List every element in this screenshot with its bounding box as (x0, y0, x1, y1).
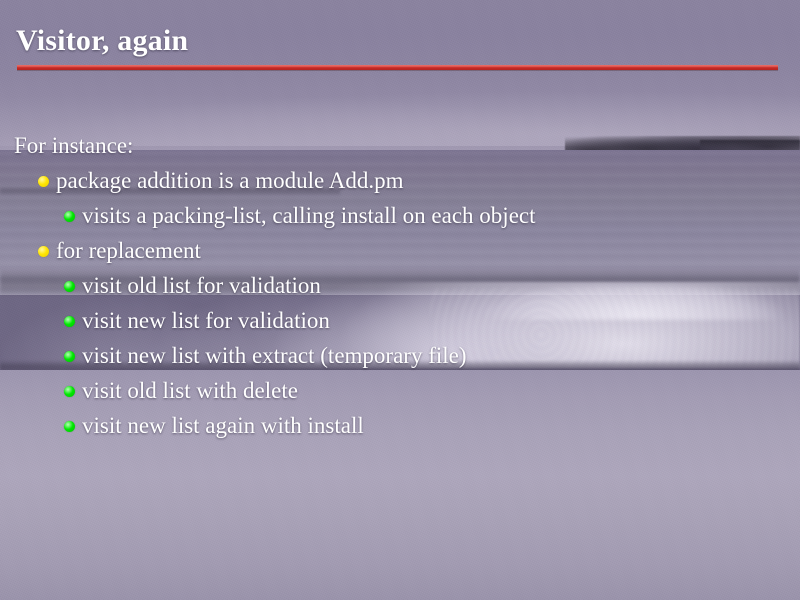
bullet-dot-icon (38, 176, 49, 187)
body-line-text: visit new list for validation (82, 308, 330, 333)
bullet-dot-icon (64, 281, 75, 292)
body-line-text: For instance: (14, 133, 133, 158)
bullet-dot-icon (64, 211, 75, 222)
bullet-dot-icon (64, 316, 75, 327)
body-line-text: visit new list again with install (82, 413, 364, 438)
bullet-item-level1: for replacement (0, 233, 800, 268)
slide-body: For instance: package addition is a modu… (0, 128, 800, 443)
body-line-text: visits a packing-list, calling install o… (82, 203, 536, 228)
bullet-item-level2: visits a packing-list, calling install o… (0, 198, 800, 233)
body-line-intro: For instance: (0, 128, 800, 163)
bullet-item-level2: visit old list with delete (0, 373, 800, 408)
bullet-item-level2: visit new list with extract (temporary f… (0, 338, 800, 373)
bullet-dot-icon (64, 386, 75, 397)
body-line-text: visit old list for validation (82, 273, 321, 298)
body-line-text: visit new list with extract (temporary f… (82, 343, 467, 368)
bullet-item-level2: visit new list again with install (0, 408, 800, 443)
body-line-text: for replacement (56, 238, 201, 263)
bullet-item-level2: visit new list for validation (0, 303, 800, 338)
bullet-dot-icon (64, 421, 75, 432)
bullet-item-level1: package addition is a module Add.pm (0, 163, 800, 198)
body-line-text: package addition is a module Add.pm (56, 168, 403, 193)
title-underline-rule (17, 65, 778, 70)
body-line-text: visit old list with delete (82, 378, 298, 403)
bullet-item-level2: visit old list for validation (0, 268, 800, 303)
bullet-dot-icon (64, 351, 75, 362)
slide-title: Visitor, again (16, 24, 188, 58)
bullet-dot-icon (38, 246, 49, 257)
presentation-slide: Visitor, again For instance: package add… (0, 0, 800, 600)
